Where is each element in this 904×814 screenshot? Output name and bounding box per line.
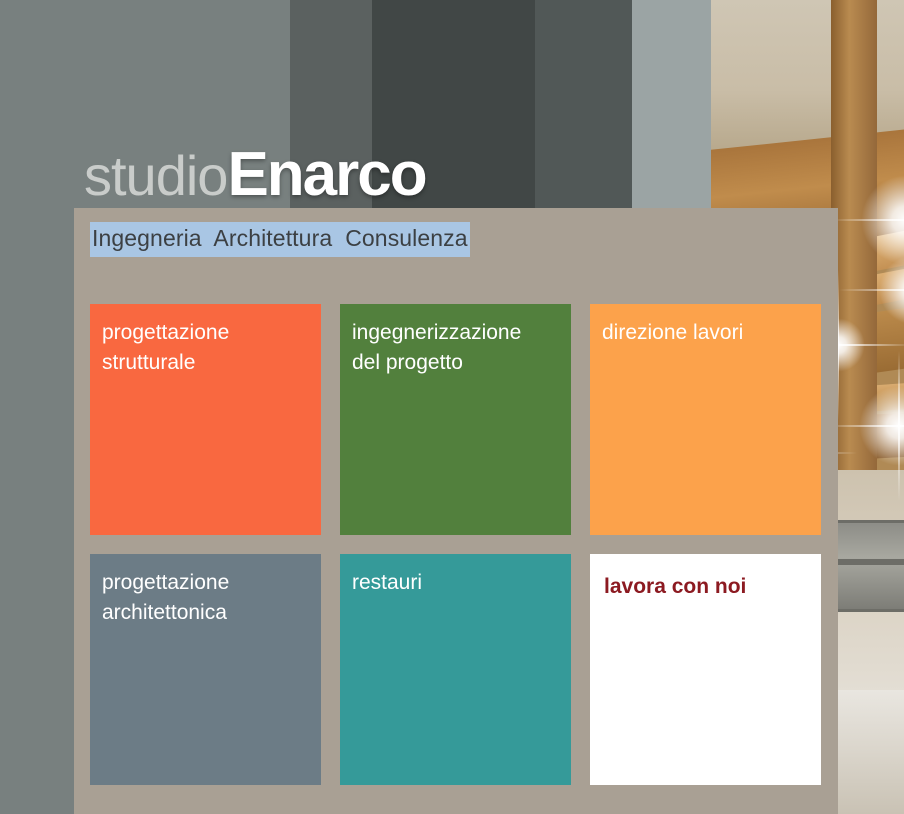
services-row-2: progettazione architettonica restauri la… [90,554,836,785]
tile-progettazione-strutturale[interactable]: progettazione strutturale [90,304,321,535]
tile-label: ingegnerizzazione del progetto [352,318,561,378]
tile-label: lavora con noi [604,572,811,602]
tile-label: restauri [352,568,561,598]
services-row-1: progettazione strutturale ingegnerizzazi… [90,304,836,535]
subtitle-container: Ingegneria Architettura Consulenza [90,222,470,257]
site-logo[interactable]: studioEnarco [84,144,426,206]
tile-label: direzione lavori [602,318,811,348]
services-grid: progettazione strutturale ingegnerizzazi… [90,304,836,785]
tile-direzione-lavori[interactable]: direzione lavori [590,304,821,535]
tile-label: progettazione strutturale [102,318,311,378]
site-subtitle: Ingegneria Architettura Consulenza [90,222,470,257]
content-panel: Ingegneria Architettura Consulenza proge… [74,208,838,814]
tile-progettazione-architettonica[interactable]: progettazione architettonica [90,554,321,785]
logo-prefix: studio [84,144,227,207]
tile-restauri[interactable]: restauri [340,554,571,785]
tile-ingegnerizzazione-progetto[interactable]: ingegnerizzazione del progetto [340,304,571,535]
page-root: studioEnarco Ingegneria Architettura Con… [0,0,904,814]
tile-label: progettazione architettonica [102,568,311,628]
tile-lavora-con-noi[interactable]: lavora con noi [590,554,821,785]
logo-name: Enarco [227,140,425,209]
